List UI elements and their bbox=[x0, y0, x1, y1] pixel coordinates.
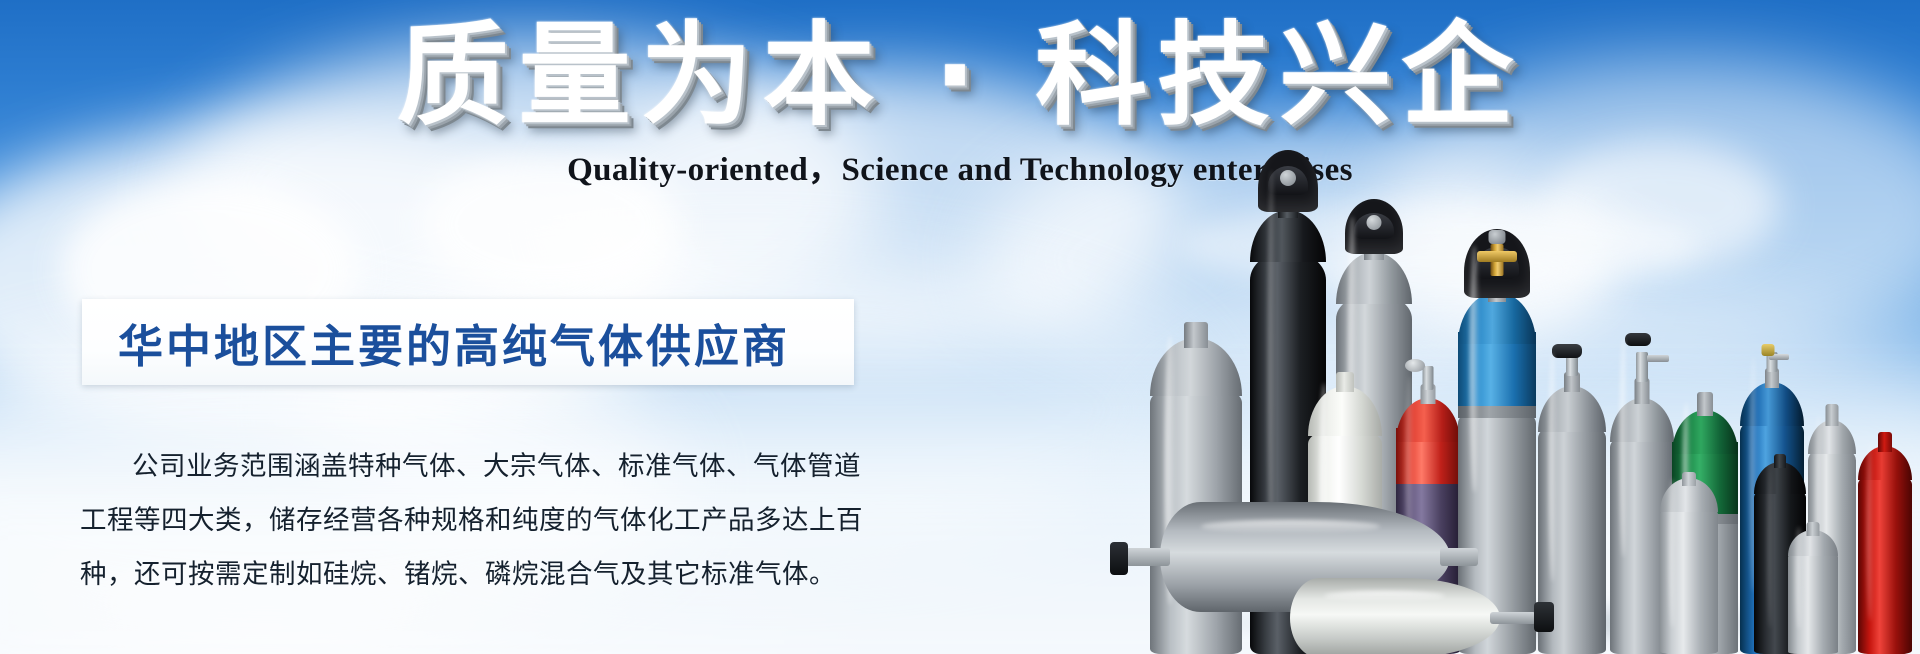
red-aluminium-cylinder bbox=[1858, 432, 1912, 654]
horizontal-white-tank-small bbox=[1290, 578, 1500, 654]
body-line-1: 公司业务范围涵盖特种气体、大宗气体、标准气体、气体管道 bbox=[80, 440, 870, 494]
tagline-text: 华中地区主要的高纯气体供应商 bbox=[82, 310, 790, 375]
silver-small-cylinder bbox=[1660, 472, 1718, 654]
gas-cylinder-group bbox=[1140, 150, 1920, 654]
tagline-box: 华中地区主要的高纯气体供应商 bbox=[82, 299, 854, 385]
headline-container: 质量为本 · 科技兴企 bbox=[0, 16, 1920, 137]
headline-text: 质量为本 · 科技兴企 bbox=[397, 16, 1524, 137]
body-line-3: 种，还可按需定制如硅烷、锗烷、磷烷混合气及其它标准气体。 bbox=[80, 548, 870, 602]
body-paragraph: 公司业务范围涵盖特种气体、大宗气体、标准气体、气体管道 工程等四大类，储存经营各… bbox=[80, 440, 870, 602]
silver-short-cylinder bbox=[1788, 522, 1838, 654]
body-line-2: 工程等四大类，储存经营各种规格和纯度的气体化工产品多达上百 bbox=[80, 494, 870, 548]
promotional-banner: 质量为本 · 科技兴企 Quality-oriented，Science and… bbox=[0, 0, 1920, 654]
